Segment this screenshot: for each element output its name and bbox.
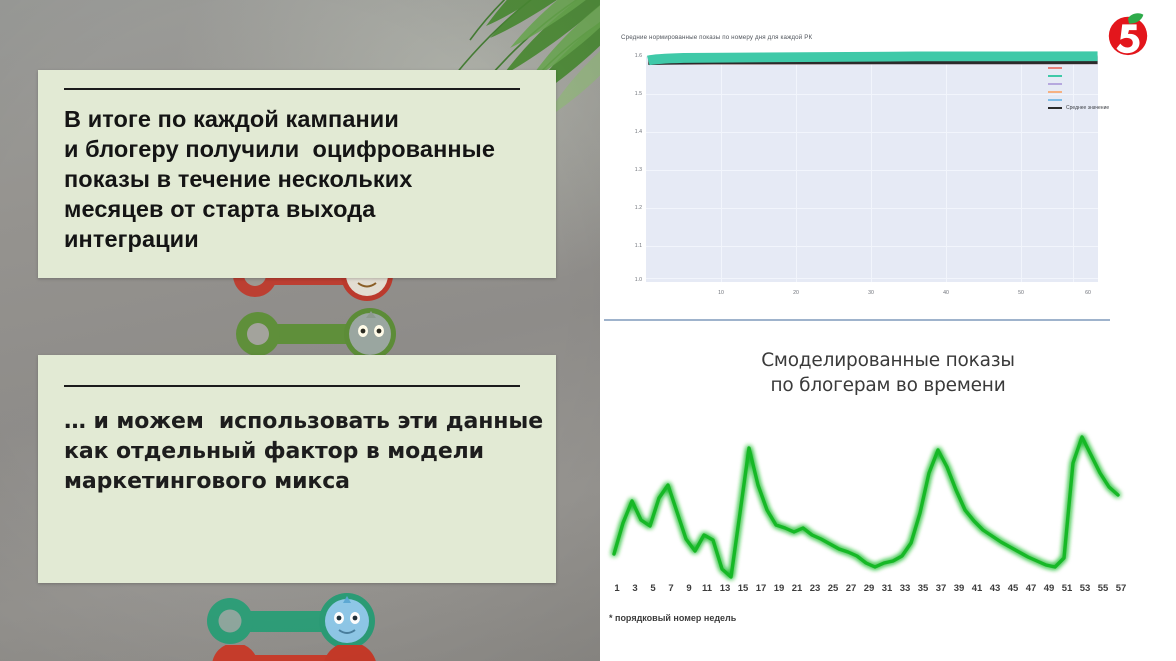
- chart2-xtick: 7: [668, 583, 673, 594]
- card2-line-1: … и можем использовать эти данные: [64, 407, 540, 437]
- chart2-xtick: 43: [990, 583, 1001, 594]
- legend-item[interactable]: [1048, 80, 1168, 88]
- card1-line-5: интеграции: [64, 224, 540, 254]
- token-toy-red-bottom: [205, 645, 385, 661]
- chart1-xtick: 40: [943, 290, 949, 296]
- gridline-h: [646, 246, 1098, 247]
- gridline-v: [721, 56, 722, 282]
- gridline-v: [796, 56, 797, 282]
- gridline-v: [1021, 56, 1022, 282]
- card-insight-2: … и можем использовать эти данные как от…: [38, 355, 556, 583]
- chart2-xtick: 15: [738, 583, 749, 594]
- chart1-ytick: 1.4: [622, 129, 642, 135]
- right-content-panel: Средние нормированные показы по номеру д…: [600, 0, 1176, 661]
- card-insight-2-text: … и можем использовать эти данные как от…: [64, 407, 540, 497]
- chart1-xtick: 20: [793, 290, 799, 296]
- chart1-series-lines: [646, 56, 1098, 61]
- chart1-title: Средние нормированные показы по номеру д…: [621, 34, 812, 41]
- legend-swatch-icon: [1048, 99, 1062, 101]
- chart2-xtick: 25: [828, 583, 839, 594]
- chart1-ytick: 1.3: [622, 167, 642, 173]
- section-heading: Смоделированные показы по блогерам во вр…: [600, 348, 1176, 398]
- chart2-xtick: 33: [900, 583, 911, 594]
- chart1-xtick: 60: [1085, 290, 1091, 296]
- gridline-h: [646, 278, 1098, 279]
- chart1-ytick: 1.6: [622, 53, 642, 59]
- chart1-ytick: 1.0: [622, 277, 642, 283]
- chart2-xtick: 3: [632, 583, 637, 594]
- card1-line-1: В итоге по каждой кампании: [64, 104, 540, 134]
- chart2-xtick: 39: [954, 583, 965, 594]
- chart2-xtick: 21: [792, 583, 803, 594]
- chart1-xtick: 50: [1018, 290, 1024, 296]
- chart2-xtick: 31: [882, 583, 893, 594]
- chart2-green-line: [605, 415, 1125, 580]
- chart1-ytick: 1.1: [622, 243, 642, 249]
- legend-item[interactable]: [1048, 64, 1168, 72]
- legend-swatch-icon: [1048, 83, 1062, 85]
- chart2-xtick: 29: [864, 583, 875, 594]
- chart2-xtick: 13: [720, 583, 731, 594]
- chart2-xtick: 23: [810, 583, 821, 594]
- chart2-xtick: 45: [1008, 583, 1019, 594]
- chart1-baseline-rule: [604, 319, 1110, 321]
- chart2-xtick: 53: [1080, 583, 1091, 594]
- chart2-xtick: 35: [918, 583, 929, 594]
- chart-normalized-impressions: Средние нормированные показы по номеру д…: [600, 28, 1176, 323]
- legend-label: Среднее значение: [1066, 105, 1109, 111]
- chart2-xtick: 17: [756, 583, 767, 594]
- card2-line-2: как отдельный фактор в модели: [64, 437, 540, 467]
- chart2-xtick: 1: [614, 583, 619, 594]
- legend-swatch-icon: [1048, 75, 1062, 77]
- gridline-v: [946, 56, 947, 282]
- card1-line-4: месяцев от старта выхода: [64, 194, 540, 224]
- token-toy-teal: [200, 590, 385, 652]
- chart-modeled-impressions-by-blogger: 1 3 5 7 9 11 13 15 17 19 21 23 25 27 29 …: [600, 415, 1176, 645]
- legend-swatch-icon: [1048, 107, 1062, 109]
- chart2-xtick: 55: [1098, 583, 1109, 594]
- chart2-footnote: * порядковый номер недель: [609, 613, 736, 623]
- left-photo-panel: В итоге по каждой кампании и блогеру пол…: [0, 0, 600, 661]
- card1-line-3: показы в течение нескольких: [64, 164, 540, 194]
- chart2-xtick: 9: [686, 583, 691, 594]
- chart2-xtick: 51: [1062, 583, 1073, 594]
- legend-item[interactable]: [1048, 72, 1168, 80]
- chart1-xtick: 30: [868, 290, 874, 296]
- legend-item[interactable]: [1048, 88, 1168, 96]
- chart2-xtick: 49: [1044, 583, 1055, 594]
- legend-item[interactable]: [1048, 96, 1168, 104]
- chart1-plot-background: [646, 56, 1098, 282]
- card2-line-3: маркетингового микса: [64, 467, 540, 497]
- gridline-h: [646, 94, 1098, 95]
- card-rule: [64, 385, 520, 387]
- chart2-xtick: 37: [936, 583, 947, 594]
- card-rule: [64, 88, 520, 90]
- gridline-h: [646, 170, 1098, 171]
- heading-line-2: по блогерам во времени: [600, 373, 1176, 398]
- gridline-h: [646, 208, 1098, 209]
- chart2-xtick: 27: [846, 583, 857, 594]
- legend-swatch-icon: [1048, 91, 1062, 93]
- chart1-xtick: 10: [718, 290, 724, 296]
- gridline-h: [646, 132, 1098, 133]
- chart2-x-axis-labels: 1 3 5 7 9 11 13 15 17 19 21 23 25 27 29 …: [608, 583, 1128, 599]
- legend-item-average[interactable]: Среднее значение: [1048, 104, 1168, 112]
- chart2-xtick: 11: [702, 583, 712, 594]
- chart1-legend: Среднее значение: [1048, 64, 1168, 112]
- card-insight-1-text: В итоге по каждой кампании и блогеру пол…: [64, 104, 540, 254]
- chart2-xtick: 41: [972, 583, 983, 594]
- chart1-ytick: 1.5: [622, 91, 642, 97]
- chart2-xtick: 19: [774, 583, 785, 594]
- chart2-xtick: 57: [1116, 583, 1127, 594]
- chart1-ytick: 1.2: [622, 205, 642, 211]
- card1-line-2: и блогеру получили оцифрованные: [64, 134, 540, 164]
- legend-swatch-icon: [1048, 67, 1062, 69]
- chart1-plot-area: 1.6 1.5 1.4 1.3 1.2 1.1 1.0 10 20 30 40 …: [622, 52, 1098, 304]
- chart2-xtick: 5: [650, 583, 655, 594]
- chart2-xtick: 47: [1026, 583, 1037, 594]
- card-insight-1: В итоге по каждой кампании и блогеру пол…: [38, 70, 556, 278]
- gridline-v: [871, 56, 872, 282]
- heading-line-1: Смоделированные показы: [600, 348, 1176, 373]
